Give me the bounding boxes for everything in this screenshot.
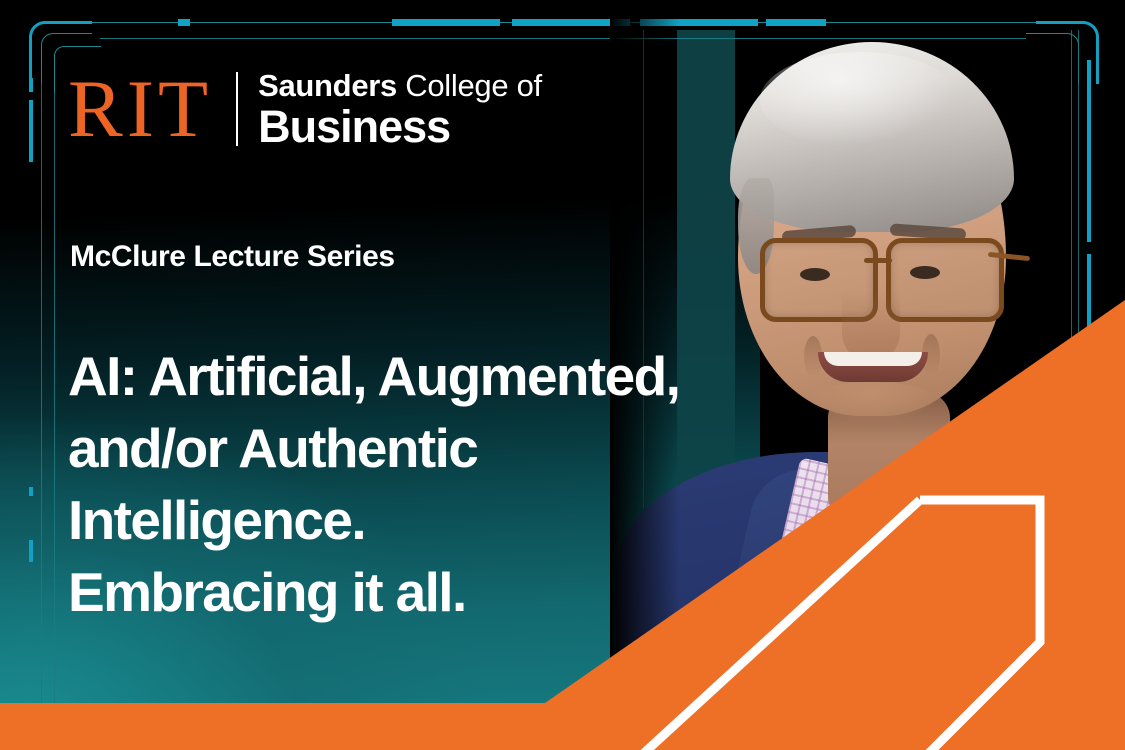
frame-dash (392, 19, 500, 26)
frame-dash (29, 100, 33, 162)
promo-poster: RIT Saunders College of Business McClure… (0, 0, 1125, 750)
college-line-1: Saunders College of (258, 69, 542, 103)
college-name: Saunders (258, 68, 397, 103)
logo-divider (236, 72, 238, 146)
frame-dash (29, 540, 33, 562)
headline-line-3: Intelligence. (68, 484, 768, 556)
chin (806, 382, 940, 424)
headline-line-2: and/or Authentic (68, 412, 768, 484)
glasses-bridge (864, 258, 892, 263)
college-line-2: Business (258, 103, 542, 150)
headline-line-1: AI: Artificial, Augmented, (68, 340, 768, 412)
lens-right (886, 238, 1004, 322)
frame-vline-left-1 (41, 80, 42, 703)
teeth (824, 352, 922, 366)
series-eyebrow: McClure Lecture Series (70, 240, 395, 274)
nose (842, 290, 900, 360)
frame-vline-left-2 (54, 92, 55, 703)
frame-dash (178, 19, 190, 26)
frame-dash (29, 487, 33, 496)
frame-dash (29, 78, 33, 92)
headline: AI: Artificial, Augmented, and/or Authen… (68, 340, 768, 628)
college-of-text: College of (397, 68, 542, 103)
rit-saunders-logo: RIT Saunders College of Business (68, 68, 542, 150)
rit-wordmark: RIT (68, 68, 212, 150)
hair-highlight (760, 52, 960, 148)
mouth (818, 352, 928, 382)
headline-line-4: Embracing it all. (68, 556, 768, 628)
